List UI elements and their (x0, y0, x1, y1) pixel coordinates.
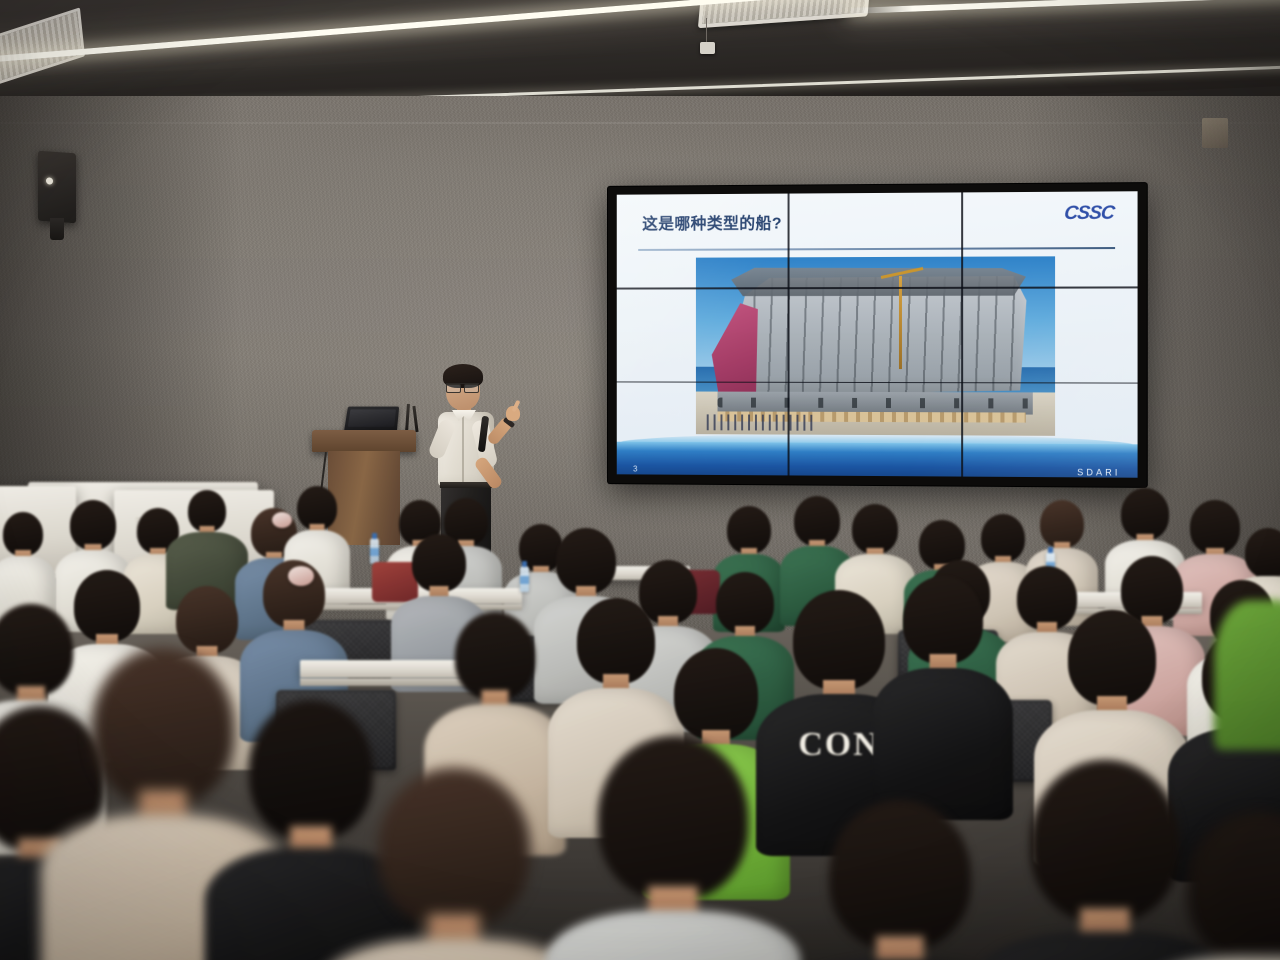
slide-title: 这是哪种类型的船? (642, 209, 782, 234)
slide-photo-ship-hull (696, 256, 1055, 436)
person-head (598, 736, 748, 900)
presentation-slide: 这是哪种类型的船? CSSC (617, 191, 1138, 477)
presenter-shirt-placket (462, 414, 464, 482)
hair-scrunchie (288, 566, 314, 586)
person-head (793, 590, 885, 690)
bottle-label (370, 548, 379, 556)
person-head (727, 506, 771, 554)
audience-person-foreground (560, 736, 786, 960)
bottle-label (520, 576, 529, 584)
person-head (378, 768, 530, 928)
cssc-logo: CSSC (1063, 203, 1115, 226)
person-head (1068, 610, 1156, 706)
video-wall-display[interactable]: 这是哪种类型的船? CSSC (608, 183, 1147, 487)
audience-person-foreground (792, 800, 1008, 960)
glasses-icon (446, 383, 479, 391)
person-head (455, 612, 535, 700)
video-wall-bezel-vertical-1 (788, 194, 790, 476)
laptop[interactable] (344, 407, 399, 432)
person-head (903, 576, 983, 664)
person-head (981, 514, 1025, 562)
wall-mounted-device-icon (38, 151, 76, 224)
tshirt-text: CON (798, 726, 880, 764)
sdari-brand-text: SDARI (1077, 467, 1120, 477)
ceiling-sensor-wire (706, 18, 707, 44)
person-head (794, 496, 840, 546)
shipyard-crane-mast (899, 276, 902, 369)
person-head (674, 648, 758, 740)
audience-person-green-shirt (1214, 600, 1280, 750)
person-head (176, 586, 238, 654)
wall-access-plate (1202, 118, 1228, 148)
person-head (577, 598, 655, 684)
video-wall-screen-area: 这是哪种类型的船? CSSC (617, 191, 1138, 477)
person-head (1187, 812, 1280, 960)
person-neck (876, 936, 924, 960)
ship-hull-deck-edge (731, 267, 1026, 296)
person-head (412, 534, 466, 592)
ceiling-sensor-icon (700, 42, 715, 54)
person-head (829, 800, 971, 950)
presenter-belt (440, 482, 492, 488)
person-shirt (545, 910, 801, 960)
person-head (1040, 500, 1084, 548)
audience-person (880, 576, 1006, 820)
water-bottle[interactable] (370, 538, 379, 564)
shipyard-crowd (706, 415, 813, 431)
audience-person-foreground (336, 768, 572, 960)
lecture-hall-photo: 这是哪种类型的船? CSSC (0, 0, 1280, 960)
podium-top (312, 430, 416, 452)
wall-device-mount (50, 218, 64, 240)
person-head (1245, 528, 1280, 578)
audience-person-foreground (1150, 812, 1280, 960)
person-head (92, 648, 234, 806)
water-bottle[interactable] (520, 566, 529, 592)
slide-title-rule (638, 247, 1115, 250)
person-head (1121, 488, 1169, 540)
slide-page-number: 3 (633, 465, 637, 474)
person-head (852, 504, 898, 554)
video-wall-bezel-vertical-2 (961, 192, 963, 476)
person-head (556, 528, 616, 594)
slide-footer-bar: 3 SDARI (617, 442, 1138, 478)
person-head (70, 500, 116, 550)
ship-hull-base-openings (717, 397, 1033, 409)
person-shirt (1135, 956, 1280, 960)
